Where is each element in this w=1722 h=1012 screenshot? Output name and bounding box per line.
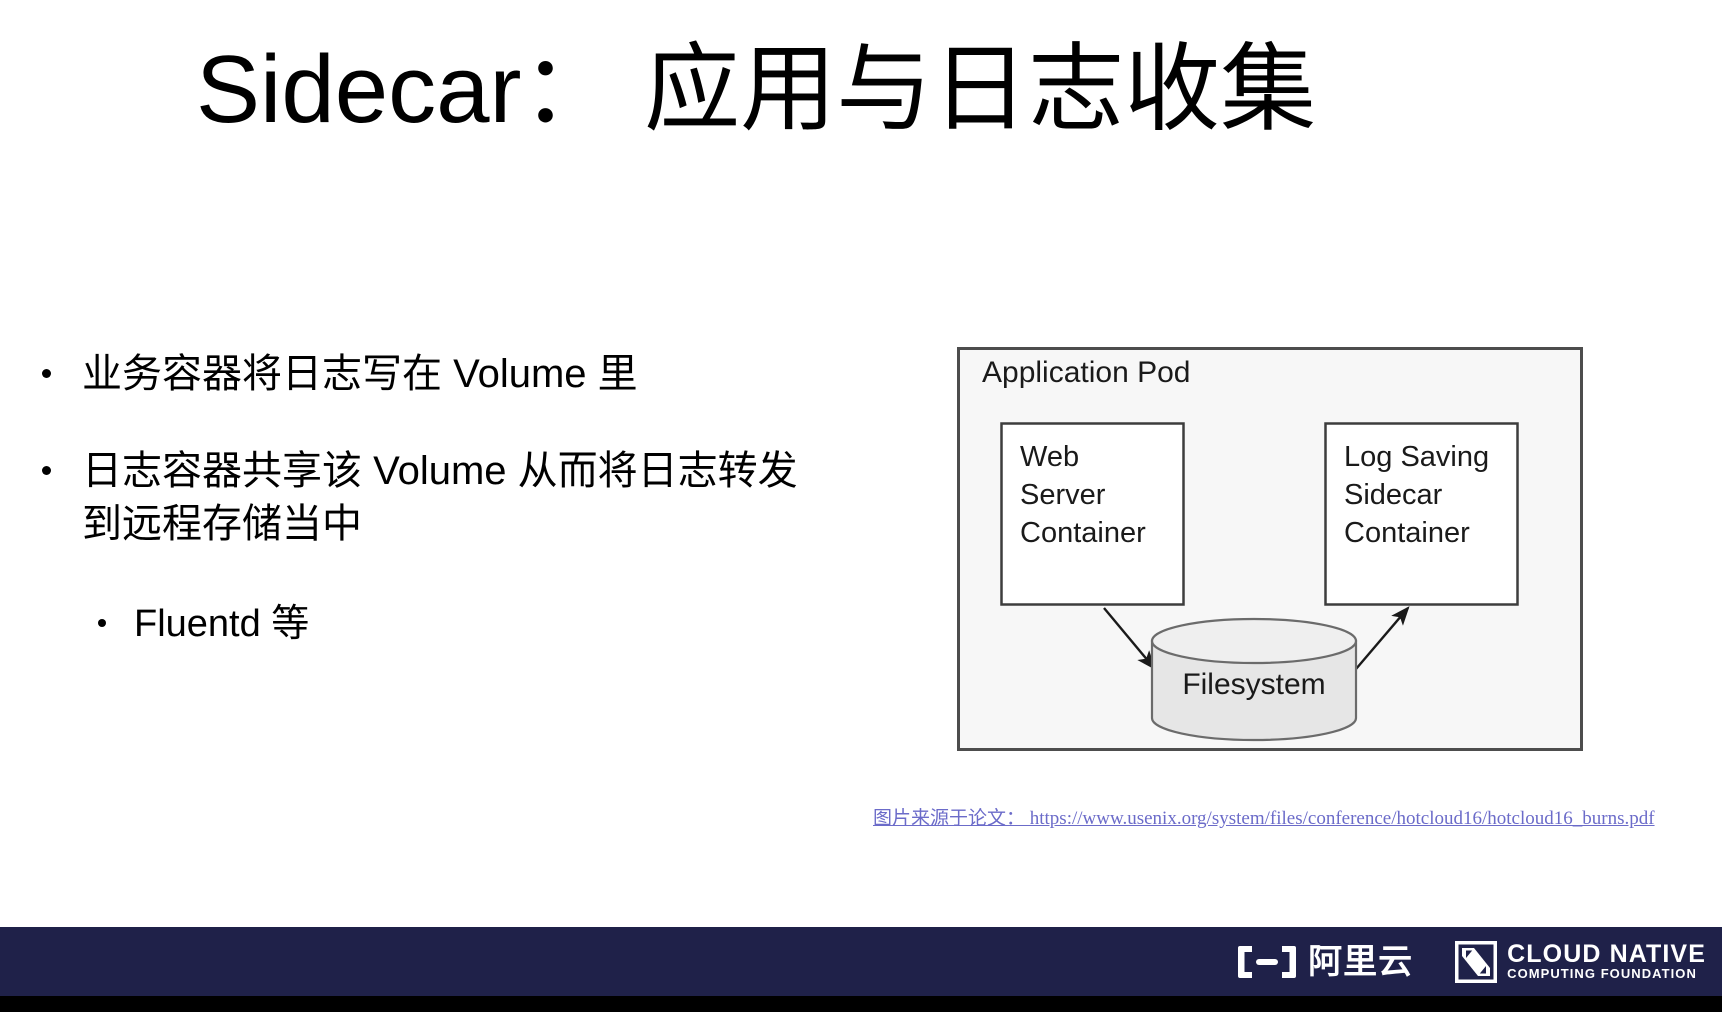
- list-item-sub: Fluentd 等: [30, 600, 830, 649]
- cncf-line2: COMPUTING FOUNDATION: [1507, 967, 1706, 981]
- footer-below-strip: [0, 996, 1722, 1012]
- log-sidecar-container-line2: Sidecar: [1344, 479, 1443, 511]
- list-item-label: 业务容器将日志写在 Volume 里: [82, 352, 638, 396]
- bullet-dot-icon: [42, 466, 51, 475]
- list-item: 业务容器将日志写在 Volume 里: [30, 348, 830, 401]
- cncf-wordmark: CLOUD NATIVE COMPUTING FOUNDATION: [1507, 942, 1706, 982]
- bullet-list: 业务容器将日志写在 Volume 里 日志容器共享该 Volume 从而将日志转…: [30, 348, 830, 650]
- alibaba-cloud-label: 阿里云: [1308, 945, 1413, 979]
- alibaba-cloud-mark-icon: [1235, 943, 1299, 981]
- application-pod-diagram: Application Pod Web Server Container Log…: [956, 346, 1584, 752]
- cncf-mark-icon: [1455, 941, 1497, 983]
- web-server-container-line2: Server: [1020, 479, 1106, 511]
- log-sidecar-container-line3: Container: [1344, 517, 1470, 549]
- cncf-line1: CLOUD NATIVE: [1507, 942, 1706, 968]
- web-server-container-line1: Web: [1020, 441, 1079, 473]
- filesystem-cylinder: Filesystem: [1152, 619, 1356, 740]
- list-item-sub-label: Fluentd 等: [134, 603, 309, 645]
- pod-label: Application Pod: [982, 356, 1190, 389]
- page-title: Sidecar： 应用与日志收集: [196, 36, 1536, 144]
- alibaba-cloud-logo: 阿里云: [1235, 943, 1413, 981]
- image-source-link[interactable]: 图片来源于论文： https://www.usenix.org/system/f…: [873, 803, 1655, 830]
- footer-logos: 阿里云 CLOUD NATIVE COMPUTING FOUNDATION: [1235, 931, 1706, 992]
- diagram-svg: Application Pod Web Server Container Log…: [956, 346, 1584, 752]
- list-item-label: 日志容器共享该 Volume 从而将日志转发到远程存储当中: [82, 449, 798, 546]
- list-item: 日志容器共享该 Volume 从而将日志转发到远程存储当中: [30, 445, 830, 551]
- bullet-dot-icon: [42, 369, 51, 378]
- slide-canvas: Sidecar： 应用与日志收集 业务容器将日志写在 Volume 里 日志容器…: [0, 0, 1722, 1012]
- bullet-dot-icon: [98, 619, 106, 627]
- cncf-logo: CLOUD NATIVE COMPUTING FOUNDATION: [1455, 941, 1706, 983]
- filesystem-label: Filesystem: [1182, 668, 1325, 701]
- web-server-container-line3: Container: [1020, 517, 1146, 549]
- log-sidecar-container-line1: Log Saving: [1344, 441, 1489, 473]
